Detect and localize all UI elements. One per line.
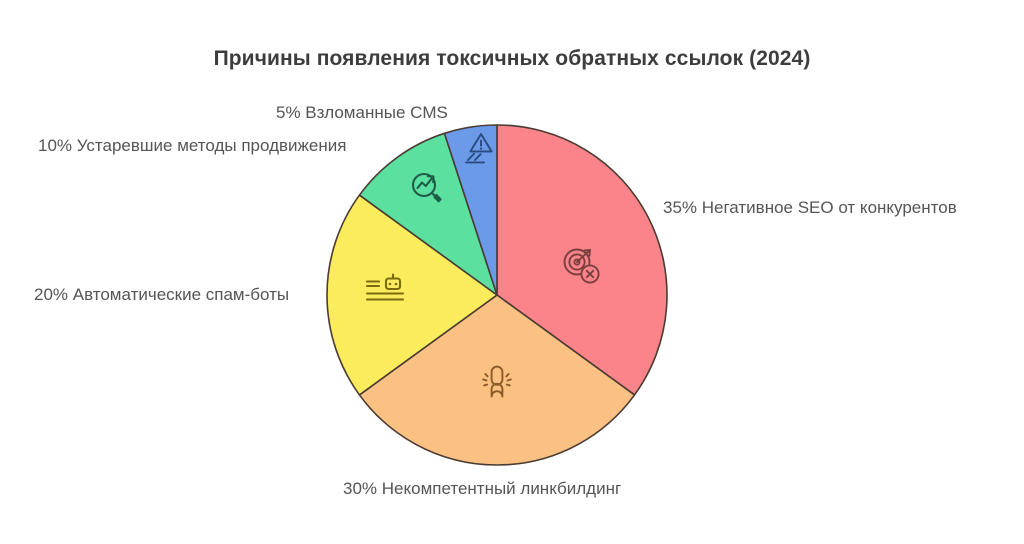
pie-label-outdated-methods: 10% Устаревшие методы продвижения [38,136,346,156]
pie-label-negative-seo: 35% Негативное SEO от конкурентов [663,198,957,218]
pie-chart-figure: Причины появления токсичных обратных ссы… [0,0,1024,544]
pie-label-spam-bots: 20% Автоматические спам-боты [34,285,289,305]
pie-chart-canvas [0,0,1024,544]
pie-label-hacked-cms: 5% Взломанные CMS [276,103,448,123]
pie-label-linkbuilding: 30% Некомпетентный линкбилдинг [343,479,621,499]
